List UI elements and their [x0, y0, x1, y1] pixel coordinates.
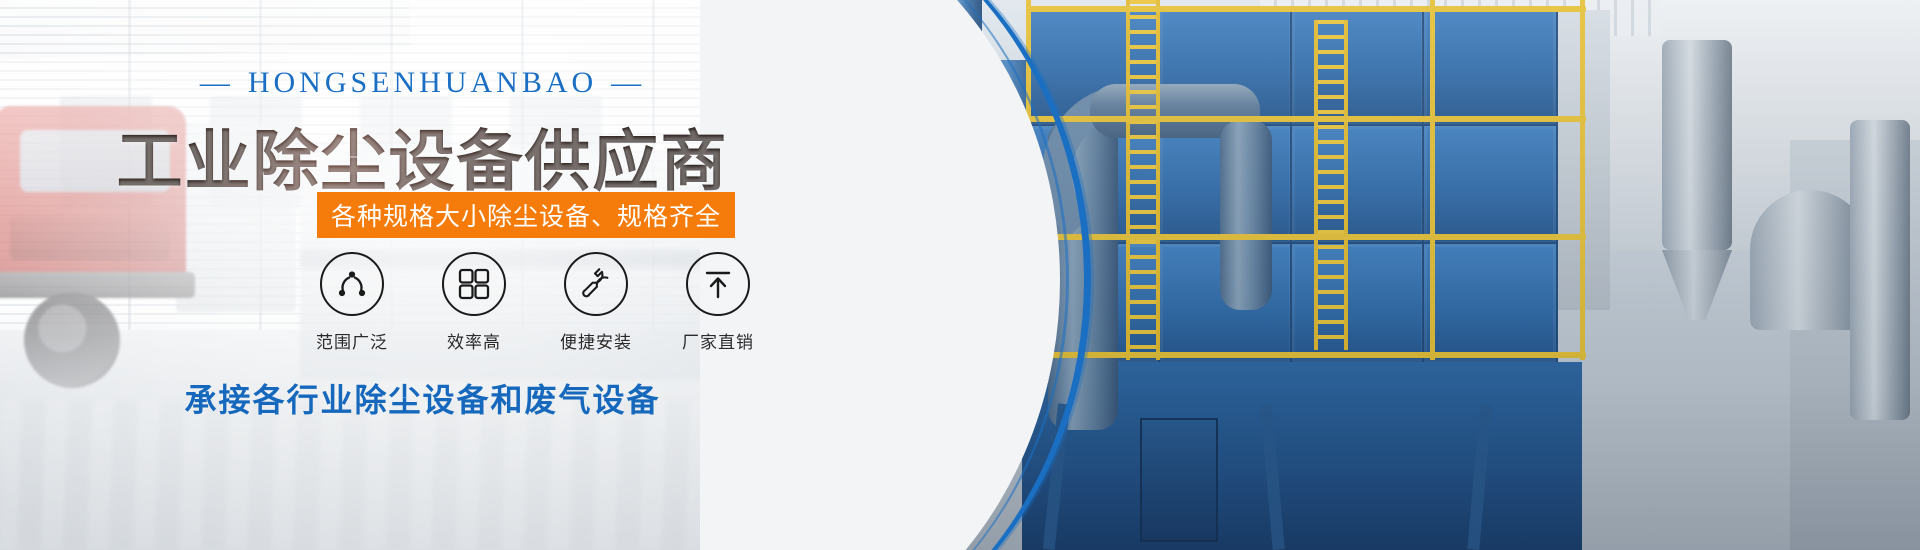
brand-pinyin: —HONGSENHUANBAO— — [0, 66, 845, 100]
feature-label: 便捷安装 — [544, 328, 648, 353]
subtitle-badge: 各种规格大小除尘设备、规格齐全 — [317, 192, 735, 238]
dash-right: — — [597, 66, 659, 100]
grid-four-squares-icon — [442, 252, 506, 316]
banner-content: —HONGSENHUANBAO— 工业除尘设备供应商 各种规格大小除尘设备、规格… — [0, 0, 1040, 550]
dash-left: — — [186, 66, 248, 100]
subtitle-badge-text: 各种规格大小除尘设备、规格齐全 — [331, 197, 721, 233]
feature-item-scope[interactable]: 范围广泛 — [300, 252, 404, 353]
feature-item-installation[interactable]: 便捷安装 — [544, 252, 648, 353]
feature-label: 范围广泛 — [300, 328, 404, 353]
page-title: 工业除尘设备供应商 — [0, 108, 845, 204]
brand-pinyin-text: HONGSENHUANBAO — [248, 66, 597, 99]
feature-label: 厂家直销 — [666, 328, 770, 353]
hero-banner: —HONGSENHUANBAO— 工业除尘设备供应商 各种规格大小除尘设备、规格… — [0, 0, 1920, 550]
wrench-icon — [564, 252, 628, 316]
feature-label: 效率高 — [422, 328, 526, 353]
feature-list: 范围广泛 效率高 — [300, 252, 770, 362]
arrow-up-to-line-icon — [686, 252, 750, 316]
scope-network-icon — [320, 252, 384, 316]
banner-tagline: 承接各行业除尘设备和废气设备 — [0, 375, 845, 421]
feature-item-efficiency[interactable]: 效率高 — [422, 252, 526, 353]
feature-item-direct-sales[interactable]: 厂家直销 — [666, 252, 770, 353]
